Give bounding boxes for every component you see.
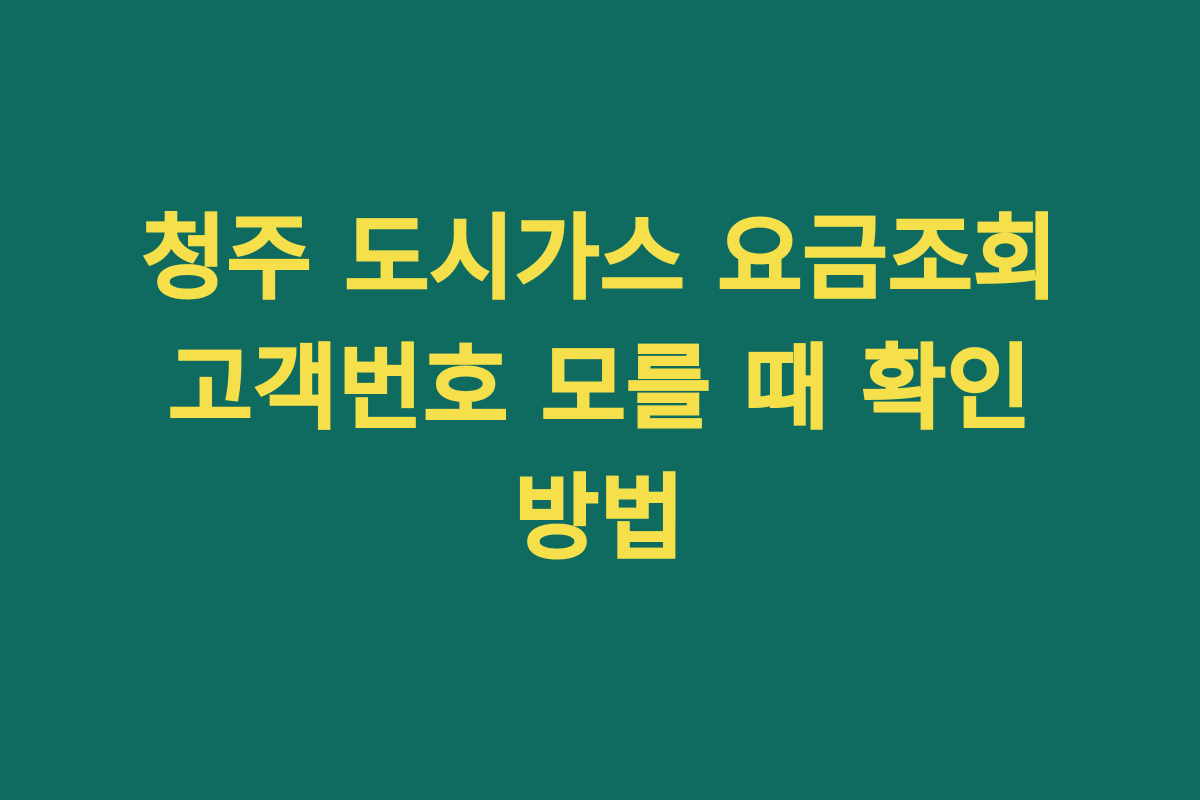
title-line-1: 청주 도시가스 요금조회 xyxy=(40,194,1160,324)
title-block: 청주 도시가스 요금조회 고객번호 모를 때 확인 방법 xyxy=(40,194,1160,584)
title-line-2: 고객번호 모를 때 확인 xyxy=(40,324,1160,454)
title-line-3: 방법 xyxy=(40,454,1160,584)
thumbnail-card: 청주 도시가스 요금조회 고객번호 모를 때 확인 방법 xyxy=(0,0,1200,800)
